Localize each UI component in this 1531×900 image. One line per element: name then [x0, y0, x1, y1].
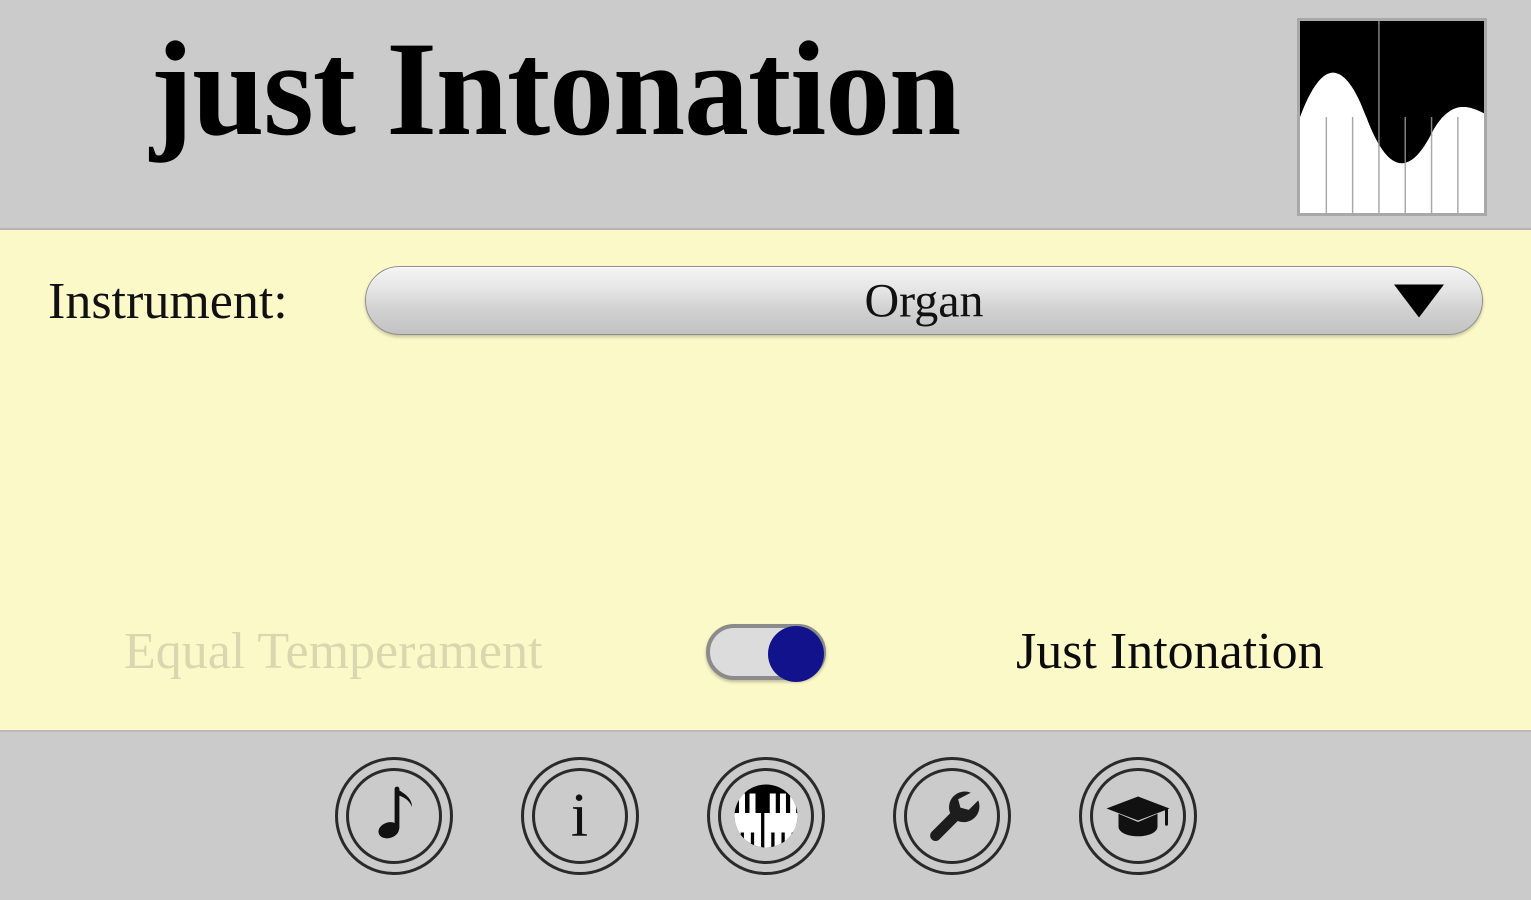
- toolbar-button-info[interactable]: i: [521, 757, 639, 875]
- piano-keyboard-icon: [730, 780, 802, 852]
- toolbar-button-keyboard[interactable]: [707, 757, 825, 875]
- wrench-icon: [916, 780, 988, 852]
- toolbar-button-sounds[interactable]: [335, 757, 453, 875]
- equal-temperament-label[interactable]: Equal Temperament: [124, 622, 542, 681]
- toolbar-button-settings[interactable]: [893, 757, 1011, 875]
- toolbar-button-learn[interactable]: [1079, 757, 1197, 875]
- main-panel: Instrument: Organ Equal Temperament Just…: [0, 230, 1531, 732]
- instrument-selected-value: Organ: [366, 273, 1482, 328]
- chevron-down-icon: [1394, 284, 1444, 317]
- toggle-knob: [768, 626, 824, 682]
- app-header: just Intonation: [0, 0, 1531, 230]
- piano-keyboard-sine-wave-logo: [1297, 18, 1487, 216]
- bottom-toolbar: i: [0, 732, 1531, 900]
- info-icon: i: [544, 780, 616, 852]
- music-note-icon: [358, 780, 430, 852]
- just-intonation-label[interactable]: Just Intonation: [1016, 622, 1324, 681]
- just-intonation-app: just Intonation: [0, 0, 1531, 900]
- instrument-label: Instrument:: [48, 272, 288, 331]
- graduation-cap-icon: [1102, 780, 1174, 852]
- instrument-dropdown[interactable]: Organ: [365, 266, 1483, 335]
- temperament-toggle[interactable]: [706, 624, 826, 680]
- app-title: just Intonation: [150, 22, 960, 157]
- info-glyph: i: [571, 785, 588, 847]
